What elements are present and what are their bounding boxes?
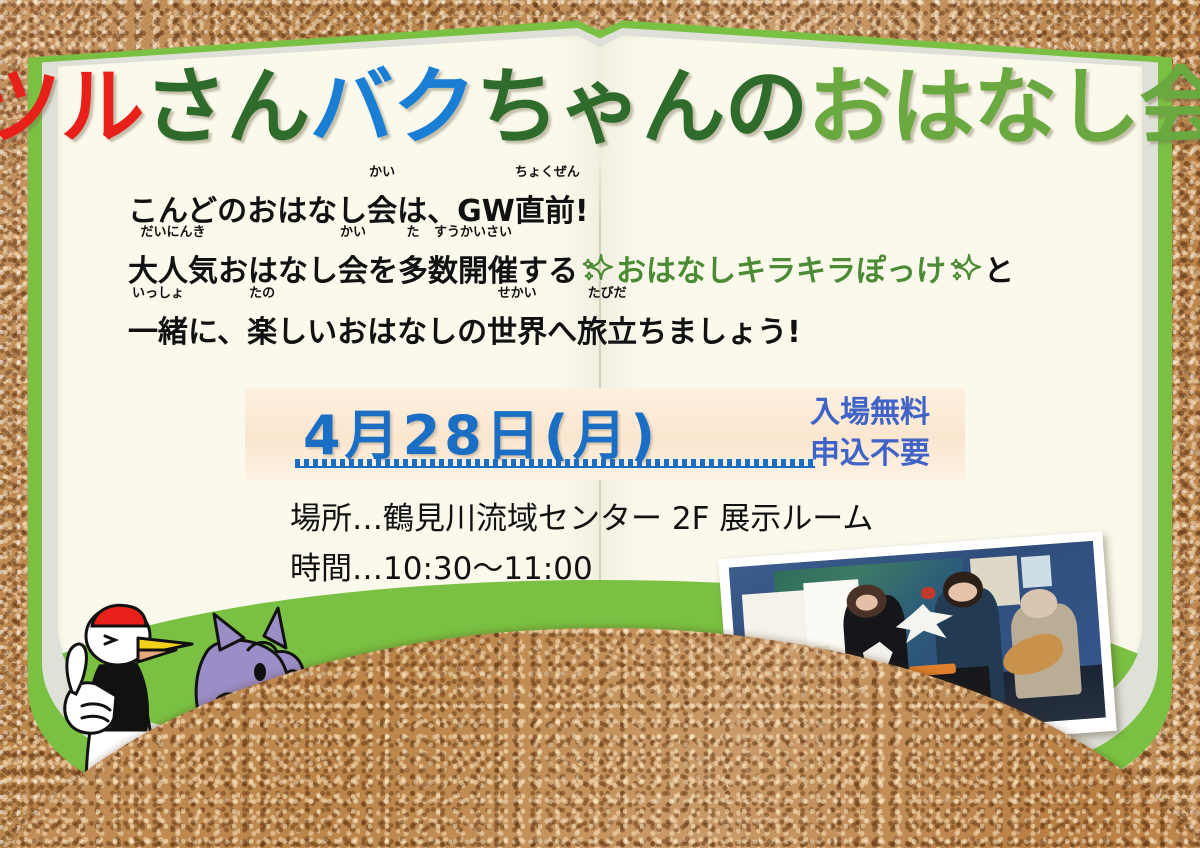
title-segment-tsuru: ツル xyxy=(0,65,143,149)
body-text: ! xyxy=(575,194,589,229)
body-text: 大人気 xyxy=(128,254,218,289)
body-text: 旅立 xyxy=(577,315,637,350)
ruby-group: へ xyxy=(547,307,577,351)
furigana: だいにんき xyxy=(128,226,218,239)
ruby-group: だいにんき大人気 xyxy=(128,246,218,290)
body-text: 会 xyxy=(338,254,368,289)
venue-line: 場所…鶴見川流域センター 2F 展示ルーム xyxy=(290,494,873,544)
sparkle-icon xyxy=(948,252,982,291)
furigana: たびだ xyxy=(577,287,637,300)
body-text-suffix: と xyxy=(984,254,1014,289)
photo-wall-slip xyxy=(1021,555,1052,589)
ruby-group: しいおはなしの xyxy=(277,307,487,351)
ruby-group: せかい世界 xyxy=(487,307,547,351)
ruby-group: を xyxy=(368,246,398,290)
title-segment-chan-no: ちゃんの xyxy=(476,65,808,149)
body-text: 世界 xyxy=(487,315,547,350)
ruby-group: たの楽 xyxy=(247,307,277,351)
page-title: ツルさんバクちゃんのおはなし会 xyxy=(0,52,1200,162)
ruby-group: ちましょう! xyxy=(637,307,801,351)
title-segment-san: さん xyxy=(143,65,309,149)
reservation-note: 申込不要 xyxy=(780,433,960,474)
ruby-group: かい会 xyxy=(367,186,397,230)
body-text: 直前 xyxy=(515,194,575,229)
body-text: 多 xyxy=(398,254,428,289)
furigana: かい xyxy=(367,166,397,179)
ruby-group: ! xyxy=(575,194,589,229)
body-text: しいおはなしの xyxy=(277,315,487,350)
ruby-group: こんどのおはなし xyxy=(128,186,367,230)
body-text: 楽 xyxy=(247,315,277,350)
ruby-group: は、GW xyxy=(397,186,515,230)
body-text: 一緒 xyxy=(128,315,188,350)
body-text: へ xyxy=(547,315,577,350)
body-text: を xyxy=(368,254,398,289)
ruby-group: に、 xyxy=(188,307,247,351)
admission-note: 入場無料 xyxy=(780,392,960,433)
ruby-group: いっしょ一緒 xyxy=(128,307,188,351)
body-text: ちましょう! xyxy=(637,315,801,350)
ruby-group: おはなし xyxy=(218,246,338,290)
body-text: おはなし xyxy=(218,254,338,289)
body-text: 数開催 xyxy=(428,254,518,289)
furigana: たの xyxy=(247,287,277,300)
furigana: すうかいさい xyxy=(428,226,518,239)
furigana: ちょくぜん xyxy=(515,166,575,179)
poster-root: ツルさんバクちゃんのおはなし会 こんどのおはなしかい会は、GWちょくぜん直前! … xyxy=(0,0,1200,848)
title-segment-ohanashikai: おはなし会 xyxy=(808,65,1200,149)
body-text: は、GW xyxy=(397,194,515,229)
free-admission-notes: 入場無料 申込不要 xyxy=(780,392,960,475)
furigana: せかい xyxy=(487,287,547,300)
body-text: こんどのおはなし xyxy=(128,194,367,229)
ruby-group: する xyxy=(518,246,578,290)
body-text: に、 xyxy=(188,315,247,350)
body-text: 会 xyxy=(367,194,397,229)
body-text-block: こんどのおはなしかい会は、GWちょくぜん直前! だいにんき大人気おはなしかい会を… xyxy=(128,186,1088,367)
furigana: いっしょ xyxy=(128,287,188,300)
ruby-group: た多 xyxy=(398,246,428,290)
body-line-1: こんどのおはなしかい会は、GWちょくぜん直前! xyxy=(128,186,1088,230)
ruby-group: すうかいさい数開催 xyxy=(428,246,518,290)
organization-name: おはなしキラキラぽっけ xyxy=(616,254,946,289)
ruby-group: ちょくぜん直前 xyxy=(515,186,575,230)
furigana: た xyxy=(398,226,428,239)
body-line-2: だいにんき大人気おはなしかい会をた多すうかいさい数開催するおはなしキラキラぽっけ… xyxy=(128,246,1088,291)
ruby-group: たびだ旅立 xyxy=(577,307,637,351)
ruby-group: かい会 xyxy=(338,246,368,290)
title-segment-baku: バク xyxy=(310,65,476,149)
furigana: かい xyxy=(338,226,368,239)
body-line-3: いっしょ一緒に、たの楽しいおはなしのせかい世界へたびだ旅立ちましょう! xyxy=(128,307,1088,351)
body-text: する xyxy=(518,254,578,289)
date-underline xyxy=(295,459,815,468)
